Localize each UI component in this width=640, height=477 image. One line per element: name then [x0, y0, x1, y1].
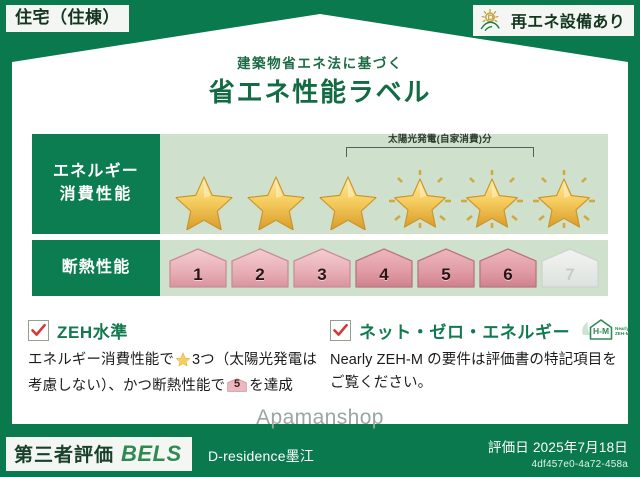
energy-performance-label-line2: 消費性能 — [60, 184, 133, 207]
net-zero-energy-checkbox[interactable] — [330, 320, 351, 341]
energy-star-6-solar — [530, 168, 598, 230]
insulation-level-5: 5 — [416, 246, 476, 290]
insulation-performance-row-title: 断熱性能 — [32, 240, 160, 296]
check-icon — [332, 322, 349, 339]
insulation-level-7: 7 — [540, 246, 600, 290]
zeh-desc-part4: を達成 — [249, 378, 293, 394]
renewable-equipment-badge: 再エネ設備あり — [473, 5, 634, 36]
renewable-equipment-label: 再エネ設備あり — [511, 8, 625, 32]
zeh-desc-part1: エネルギー消費性能で — [28, 352, 174, 368]
inline-star-icon — [175, 351, 191, 375]
svg-text:H-M: H-M — [593, 326, 609, 336]
energy-star-5-solar — [458, 168, 526, 230]
solar-generation-annotation-label: 太陽光発電(自家消費)分 — [346, 135, 534, 145]
energy-performance-row: エネルギー 消費性能 太陽光発電(自家消費)分 — [32, 134, 608, 234]
insulation-level-4: 4 — [354, 246, 414, 290]
bels-badge: 第三者評価 BELS — [6, 437, 192, 471]
insulation-level-3: 3 — [292, 246, 352, 290]
insulation-level-6-number: 6 — [478, 265, 538, 285]
insulation-level-7-number: 7 — [540, 265, 600, 285]
energy-performance-label: 住宅（住棟） 再エネ設備あり 建築 — [0, 0, 640, 477]
insulation-level-1-number: 1 — [168, 265, 228, 285]
energy-star-2 — [242, 168, 310, 230]
label-subtitle: 建築物省エネ法に基づく — [0, 57, 640, 72]
zeh-standard-description: エネルギー消費性能で3つ（太陽光発電は考慮しない）、かつ断熱性能で5を達成 — [28, 349, 318, 398]
zeh-desc-part2: 3つ（太陽光発電 — [192, 352, 302, 368]
energy-performance-row-title: エネルギー 消費性能 — [32, 134, 160, 234]
insulation-performance-label: 断熱性能 — [62, 257, 131, 280]
solar-generation-bracket — [346, 147, 534, 157]
svg-text:ZEH-M: ZEH-M — [615, 331, 630, 336]
energy-star-1 — [170, 168, 238, 230]
net-zero-energy-block: ネット・ゼロ・エネルギー H-M Nearly ZEH-M Nearly ZEH… — [330, 318, 620, 395]
zeh-standard-title: ZEH水準 — [57, 318, 128, 343]
zeh-standard-block: ZEH水準 エネルギー消費性能で3つ（太陽光発電は考慮しない）、かつ断熱性能で5… — [28, 318, 318, 398]
insulation-performance-row: 断熱性能 — [32, 240, 608, 296]
solar-generation-annotation: 太陽光発電(自家消費)分 — [346, 135, 534, 157]
label-title: 省エネ性能ラベル — [0, 78, 640, 107]
sun-solar-icon — [479, 8, 505, 32]
check-icon — [30, 322, 47, 339]
energy-star-3 — [314, 168, 382, 230]
zeh-standard-checkbox[interactable] — [28, 320, 49, 341]
energy-performance-row-body: 太陽光発電(自家消費)分 — [160, 134, 608, 234]
net-zero-energy-description: Nearly ZEH-M の要件は評価書の特記項目をご覧ください。 — [330, 349, 620, 395]
evaluation-info: 評価日 2025年7月18日 4df457e0-4a72-458a — [488, 436, 628, 470]
insulation-level-4-number: 4 — [354, 265, 414, 285]
bels-prefix-label: 第三者評価 — [14, 440, 114, 467]
insulation-level-1: 1 — [168, 246, 228, 290]
label-footer: 第三者評価 BELS D-residence墨江 評価日 2025年7月18日 … — [0, 430, 640, 477]
insulation-level-3-number: 3 — [292, 265, 352, 285]
insulation-level-5-number: 5 — [416, 265, 476, 285]
house-type-badge-label: 住宅（住棟） — [15, 8, 120, 27]
energy-star-4-solar — [386, 168, 454, 230]
inline-insulation-level-icon: 5 — [227, 377, 247, 393]
bels-name-label: BELS — [121, 441, 182, 467]
house-type-badge: 住宅（住棟） — [6, 5, 129, 32]
zeh-standard-heading: ZEH水準 — [28, 318, 318, 342]
insulation-level-2: 2 — [230, 246, 290, 290]
building-name: D-residence墨江 — [208, 446, 314, 466]
inline-insulation-level-number: 5 — [227, 376, 247, 393]
evaluation-date: 評価日 2025年7月18日 — [488, 436, 628, 456]
insulation-performance-row-body: 1 2 3 4 — [160, 240, 608, 296]
net-zero-energy-heading: ネット・ゼロ・エネルギー H-M Nearly ZEH-M — [330, 318, 620, 342]
energy-performance-label-line1: エネルギー — [53, 161, 139, 184]
label-title-block: 建築物省エネ法に基づく 省エネ性能ラベル — [0, 57, 640, 106]
evaluation-id: 4df457e0-4a72-458a — [488, 459, 628, 470]
insulation-level-6: 6 — [478, 246, 538, 290]
insulation-level-scale: 1 2 3 4 — [160, 240, 608, 296]
net-zero-energy-title: ネット・ゼロ・エネルギー — [359, 318, 570, 343]
insulation-level-2-number: 2 — [230, 265, 290, 285]
energy-star-rating — [160, 168, 608, 230]
nearly-zeh-m-logo: H-M Nearly ZEH-M — [580, 317, 632, 343]
